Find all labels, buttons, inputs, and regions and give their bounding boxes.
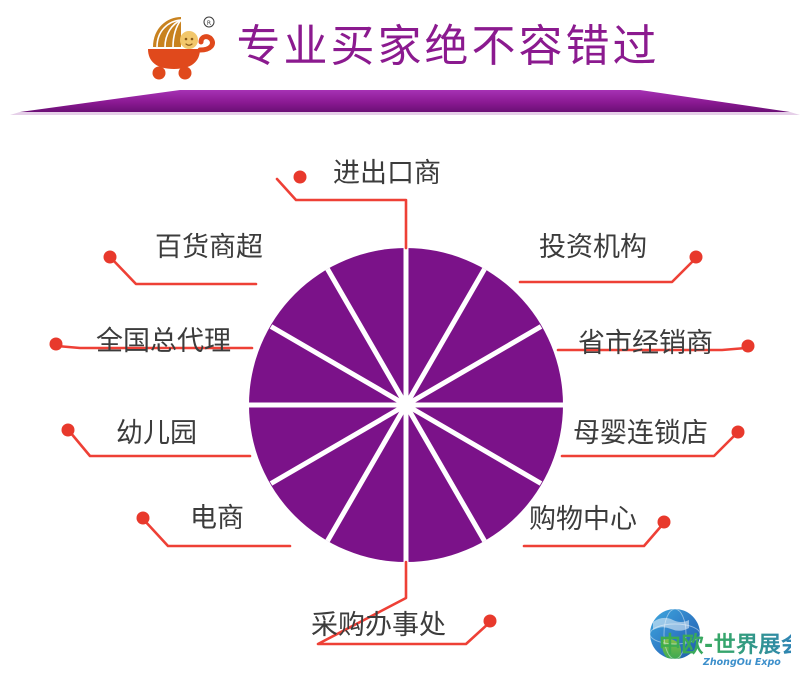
label-kindergarten[interactable]: 幼儿园 xyxy=(116,420,197,447)
header: R 专业买家绝不容错过 xyxy=(0,0,800,120)
expo-logo-cn: 中欧-世界展会 xyxy=(659,632,791,658)
label-investment[interactable]: 投资机构 xyxy=(539,234,647,261)
label-import-export[interactable]: 进出口商 xyxy=(333,160,441,187)
leader-import-export xyxy=(277,179,406,248)
marker-purchasing-office xyxy=(484,615,497,628)
pie-chart xyxy=(249,248,563,562)
page-title: 专业买家绝不容错过 xyxy=(237,25,660,69)
marker-ecommerce xyxy=(137,512,150,525)
registered-mark-icon: R xyxy=(204,17,214,27)
svg-text:R: R xyxy=(206,20,210,27)
marker-shopping-mall xyxy=(658,516,671,529)
marker-investment xyxy=(690,251,703,264)
marker-national-agent xyxy=(50,338,63,351)
header-divider-bar xyxy=(0,88,800,116)
label-national-agent[interactable]: 全国总代理 xyxy=(96,328,231,355)
label-provincial-dealer[interactable]: 省市经销商 xyxy=(578,330,713,357)
label-department-store[interactable]: 百货商超 xyxy=(155,234,263,261)
marker-maternity-chain xyxy=(732,426,745,439)
label-purchasing-office[interactable]: 采购办事处 xyxy=(311,612,446,639)
label-maternity-chain[interactable]: 母婴连锁店 xyxy=(573,420,708,447)
marker-kindergarten xyxy=(62,424,75,437)
label-shopping-mall[interactable]: 购物中心 xyxy=(529,506,637,533)
label-ecommerce[interactable]: 电商 xyxy=(190,505,244,532)
baby-stroller-icon: R xyxy=(141,14,223,80)
marker-provincial-dealer xyxy=(742,340,755,353)
header-inner: R 专业买家绝不容错过 xyxy=(0,8,800,86)
expo-logo-en: ZhongOu Expo xyxy=(702,657,781,668)
expo-logo[interactable]: 中欧-世界展会 ZhongOu Expo xyxy=(641,600,791,676)
marker-import-export xyxy=(294,171,307,184)
marker-department-store xyxy=(104,251,117,264)
slide-canvas: R 专业买家绝不容错过 xyxy=(0,0,800,683)
